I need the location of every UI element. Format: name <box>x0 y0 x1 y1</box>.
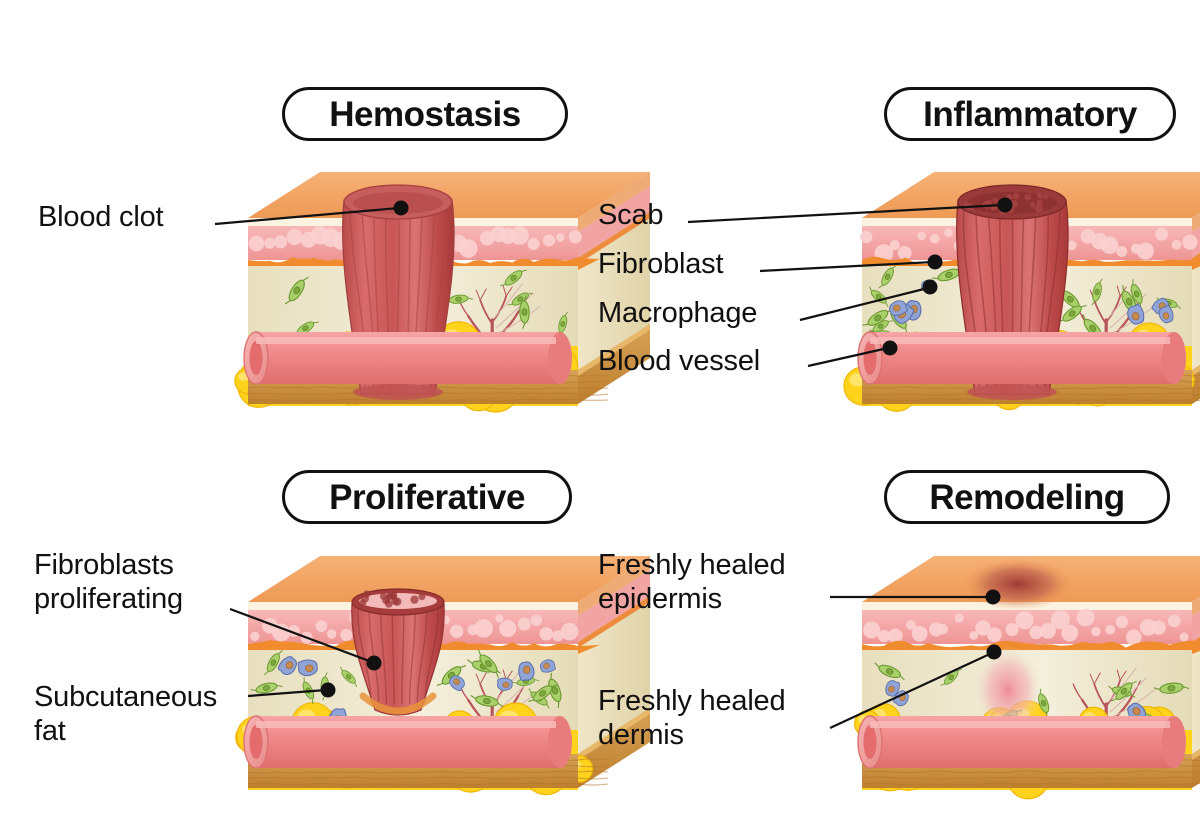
stage-badge-label-inflammatory: Inflammatory <box>923 97 1137 132</box>
stage-badge-remodeling: Remodeling <box>884 470 1170 524</box>
stage-badge-label-proliferative: Proliferative <box>329 480 525 515</box>
stage-badge-hemostasis: Hemostasis <box>282 87 568 141</box>
annotation-label-freshly-healed-dermis: Freshly healed dermis <box>598 684 785 752</box>
stage-badge-label-remodeling: Remodeling <box>929 480 1124 515</box>
skin-block-proliferative <box>236 556 650 795</box>
skin-block-hemostasis <box>235 172 650 412</box>
annotation-label-freshly-healed-epidermis: Freshly healed epidermis <box>598 548 785 616</box>
annotation-label-subcutaneous-fat: Subcutaneous fat <box>34 680 217 748</box>
wound-healing-figure: HemostasisBlood clotInflammatoryScabFibr… <box>0 0 1200 837</box>
annotation-label-fibroblasts-proliferating: Fibroblasts proliferating <box>34 548 183 616</box>
stage-badge-proliferative: Proliferative <box>282 470 572 524</box>
skin-block-inflammatory <box>844 172 1200 411</box>
annotation-label-scab: Scab <box>598 198 663 232</box>
stage-badge-label-hemostasis: Hemostasis <box>329 97 520 132</box>
annotation-label-blood-clot: Blood clot <box>38 200 163 234</box>
stage-badge-inflammatory: Inflammatory <box>884 87 1176 141</box>
annotation-label-fibroblast: Fibroblast <box>598 247 723 281</box>
annotation-label-macrophage: Macrophage <box>598 296 757 330</box>
annotation-label-blood-vessel: Blood vessel <box>598 344 760 378</box>
skin-block-remodeling <box>855 556 1200 799</box>
